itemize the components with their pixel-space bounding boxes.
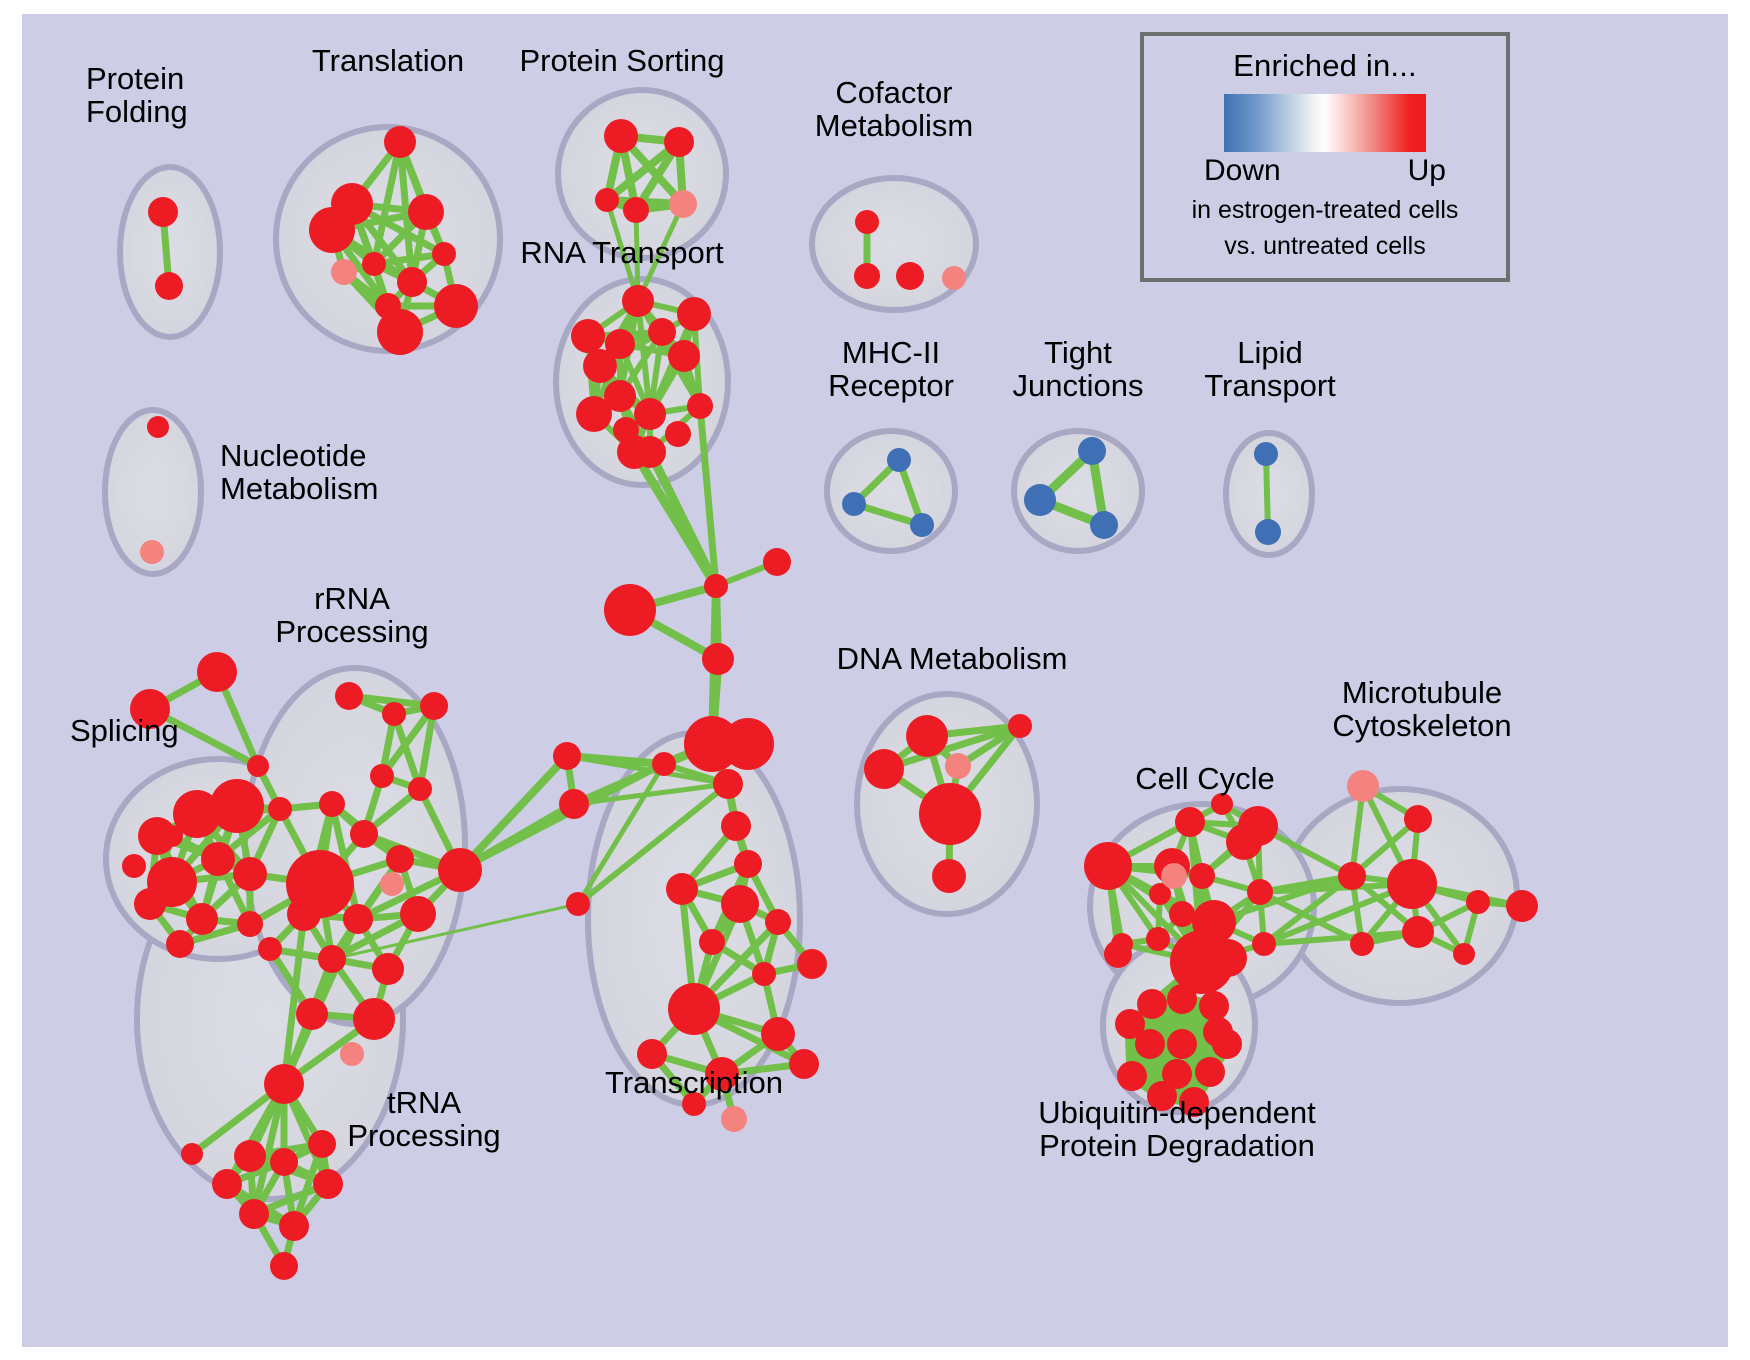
cluster-label-transcription: Transcription	[605, 1066, 783, 1099]
cluster-label-cofactor-metabolism: Cofactor Metabolism	[815, 76, 974, 143]
cluster-label-ubiquitin-protein-degradation: Ubiquitin-dependent Protein Degradation	[1038, 1096, 1316, 1163]
legend-color-gradient-bar	[1224, 94, 1426, 152]
legend-endpoint-labels: Down Up	[1200, 154, 1450, 188]
cluster-label-protein-folding: Protein Folding	[86, 62, 188, 129]
bubble-mhc-ii-receptor	[827, 431, 955, 551]
legend-panel: Enriched in... Down Up in estrogen-treat…	[1140, 32, 1510, 282]
cluster-label-nucleotide-metabolism: Nucleotide Metabolism	[220, 439, 379, 506]
cluster-label-splicing: Splicing	[70, 714, 179, 747]
figure-root: Protein Folding Translation Protein Sort…	[0, 0, 1750, 1360]
legend-caption-line-1: in estrogen-treated cells	[1144, 196, 1506, 224]
legend-title: Enriched in...	[1144, 48, 1506, 84]
cluster-label-microtubule-cytoskeleton: Microtubule Cytoskeleton	[1332, 676, 1511, 743]
cluster-label-dna-metabolism: DNA Metabolism	[837, 642, 1068, 675]
cluster-label-protein-sorting: Protein Sorting	[519, 44, 724, 77]
cluster-label-rna-transport: RNA Transport	[520, 236, 723, 269]
legend-up-label: Up	[1408, 154, 1446, 188]
network-canvas: Protein Folding Translation Protein Sort…	[22, 14, 1728, 1347]
cluster-label-cell-cycle: Cell Cycle	[1135, 762, 1275, 795]
legend-caption-line-2: vs. untreated cells	[1144, 232, 1506, 260]
bubble-protein-folding	[120, 167, 220, 337]
cluster-label-translation: Translation	[312, 44, 464, 77]
bubble-cofactor-metabolism	[812, 178, 976, 310]
cluster-label-rrna-processing: rRNA Processing	[275, 582, 428, 649]
cluster-label-lipid-transport: Lipid Transport	[1204, 336, 1336, 403]
cluster-label-trna-processing: tRNA Processing	[347, 1086, 500, 1153]
cluster-label-mhc-ii-receptor: MHC-II Receptor	[828, 336, 954, 403]
legend-down-label: Down	[1204, 154, 1281, 188]
cluster-label-tight-junctions: Tight Junctions	[1013, 336, 1144, 403]
